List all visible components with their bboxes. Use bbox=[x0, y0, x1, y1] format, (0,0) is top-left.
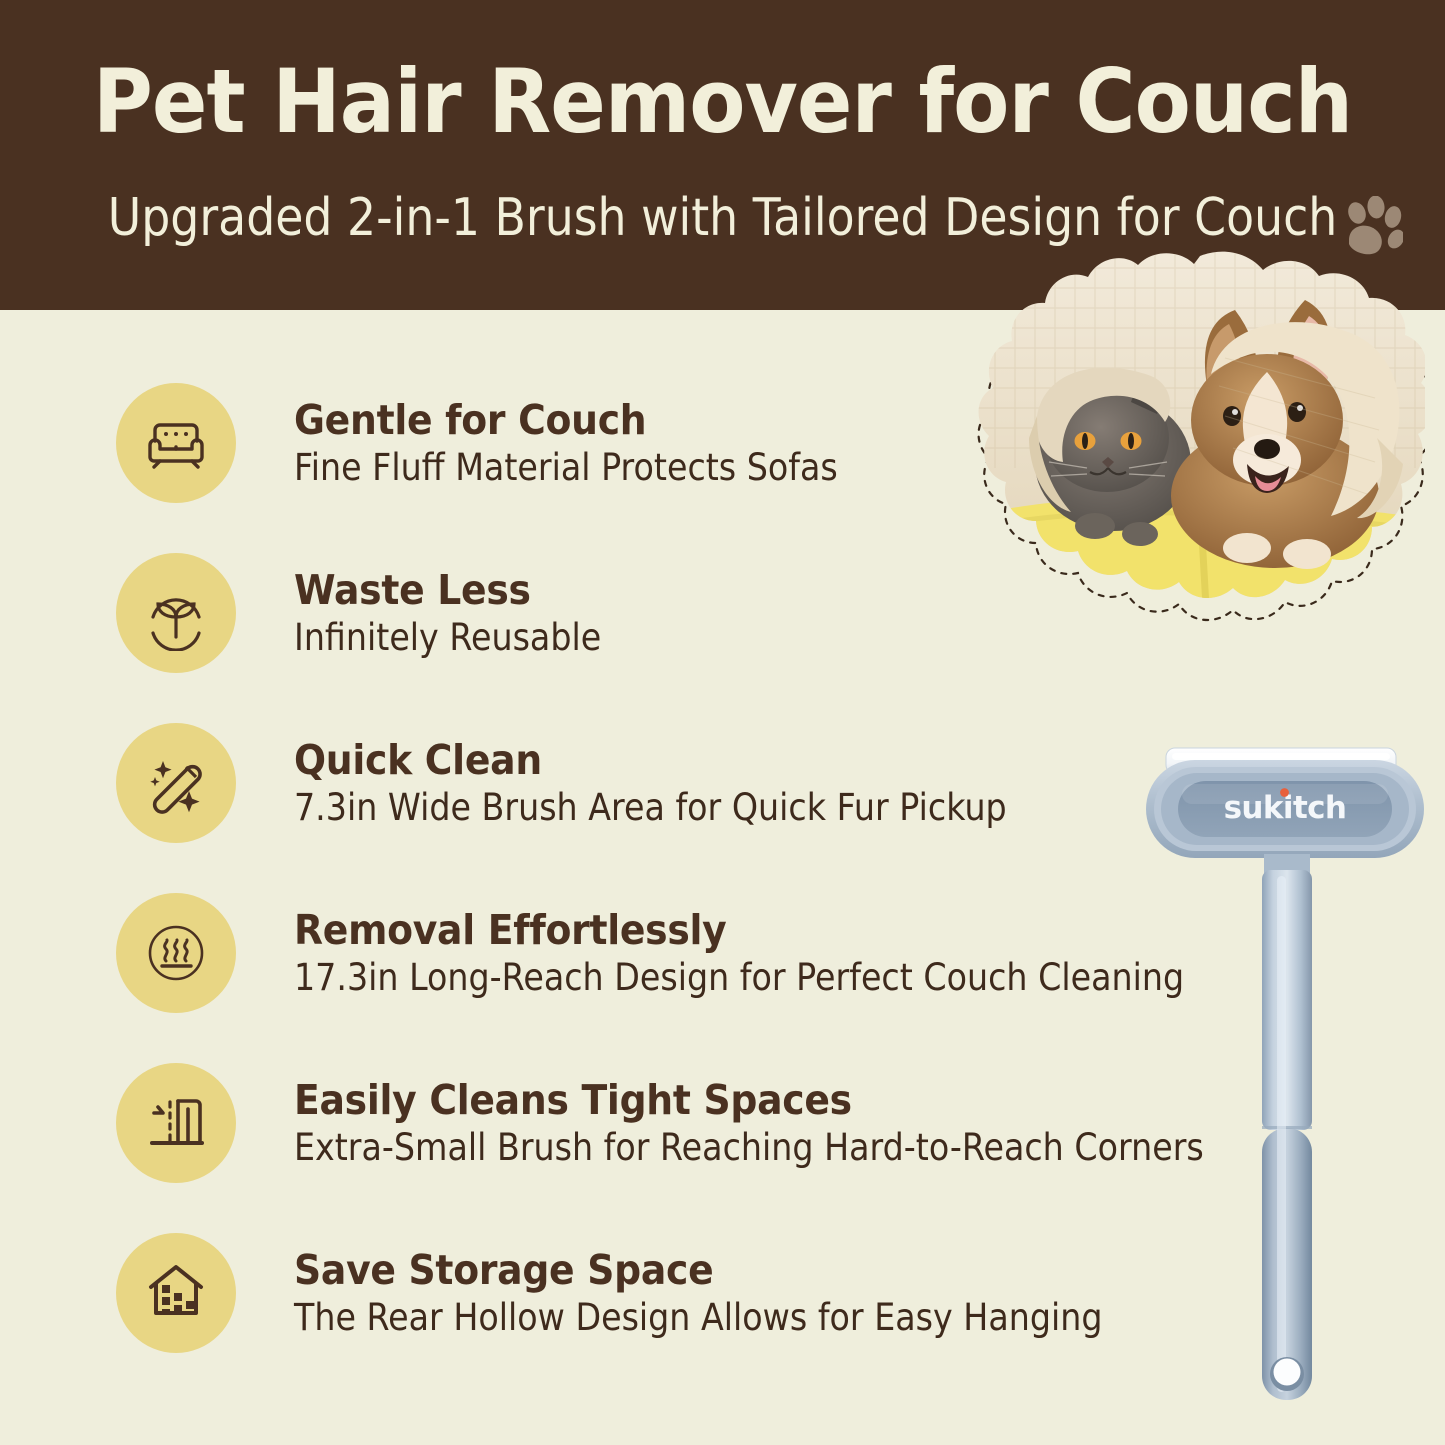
feature-title: Removal Effortlessly bbox=[294, 908, 1204, 952]
brand-dot bbox=[1280, 788, 1289, 797]
product-image-brush: sukitch bbox=[1138, 742, 1438, 1442]
feature-title: Save Storage Space bbox=[294, 1248, 1120, 1292]
feature-text-block: Waste Less Infinitely Reusable bbox=[294, 568, 635, 658]
feature-description: Fine Fluff Material Protects Sofas bbox=[294, 448, 838, 488]
feature-description: 7.3in Wide Brush Area for Quick Fur Pick… bbox=[294, 788, 1007, 828]
tight-space-gap-icon bbox=[116, 1063, 236, 1183]
feature-text-block: Gentle for Couch Fine Fluff Material Pro… bbox=[294, 398, 898, 488]
feature-description: Infinitely Reusable bbox=[294, 618, 601, 658]
feature-title: Gentle for Couch bbox=[294, 398, 850, 442]
steam-waves-icon bbox=[116, 893, 236, 1013]
feature-description: 17.3in Long-Reach Design for Perfect Cou… bbox=[294, 958, 1184, 998]
feature-title: Quick Clean bbox=[294, 738, 1023, 782]
feature-description: The Rear Hollow Design Allows for Easy H… bbox=[294, 1298, 1102, 1338]
pet-photo-image bbox=[975, 248, 1425, 668]
product-infographic: Pet Hair Remover for Couch Upgraded 2-in… bbox=[0, 0, 1445, 1445]
feature-text-block: Quick Clean 7.3in Wide Brush Area for Qu… bbox=[294, 738, 1086, 828]
feature-title: Easily Cleans Tight Spaces bbox=[294, 1078, 1224, 1122]
sprout-leaf-icon bbox=[116, 553, 236, 673]
house-icon bbox=[116, 1233, 236, 1353]
page-subtitle: Upgraded 2-in-1 Brush with Tailored Desi… bbox=[87, 192, 1359, 244]
magic-wand-icon bbox=[116, 723, 236, 843]
page-title: Pet Hair Remover for Couch bbox=[51, 58, 1395, 146]
feature-description: Extra-Small Brush for Reaching Hard-to-R… bbox=[294, 1128, 1204, 1168]
couch-icon bbox=[116, 383, 236, 503]
pet-photo-badge bbox=[975, 248, 1425, 668]
feature-text-block: Save Storage Space The Rear Hollow Desig… bbox=[294, 1248, 1192, 1338]
feature-title: Waste Less bbox=[294, 568, 608, 612]
feature-text-block: Removal Effortlessly 17.3in Long-Reach D… bbox=[294, 908, 1283, 998]
